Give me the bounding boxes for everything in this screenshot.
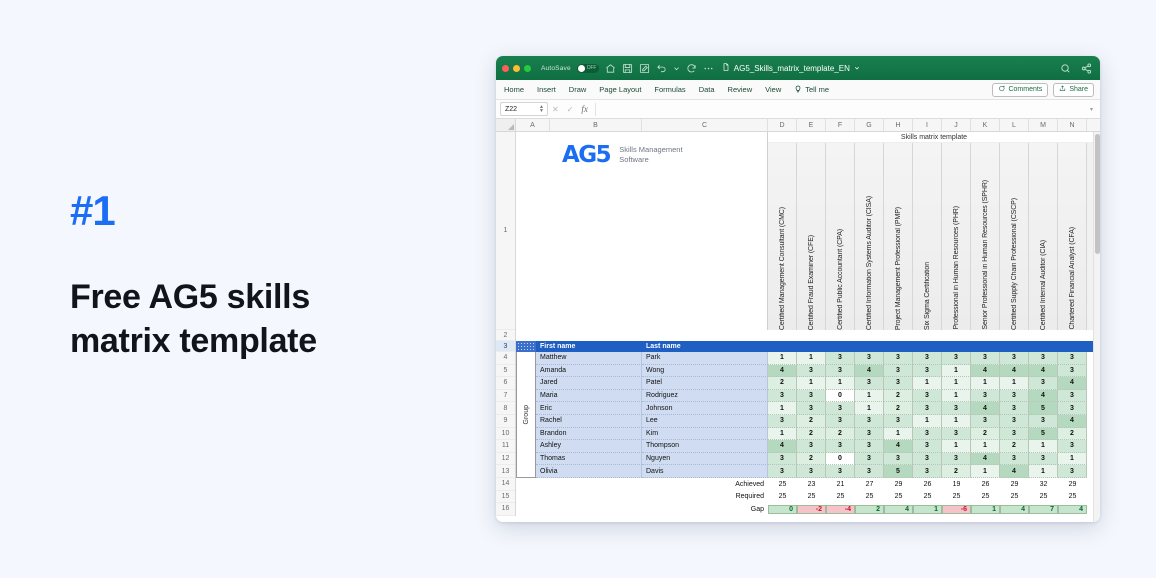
column-headers: A B C D E F G H I J K L M N: [496, 119, 1100, 132]
skill-score-cell[interactable]: 4: [1029, 365, 1058, 378]
comments-button[interactable]: Comments: [992, 83, 1048, 97]
last-name-cell[interactable]: Park: [642, 352, 768, 365]
window-titlebar: AutoSave OFF: [496, 56, 1100, 80]
skill-score-cell[interactable]: 2: [797, 415, 826, 428]
skill-score-cell[interactable]: 2: [884, 390, 913, 403]
achieved-value-cell: 29: [1058, 481, 1087, 488]
share-icon: [1059, 85, 1066, 94]
spreadsheet-grid: A B C D E F G H I J K L M N 1 2: [496, 119, 1100, 522]
skill-header-G[interactable]: Certified Information Systems Auditor (C…: [855, 143, 884, 330]
skill-score-cell[interactable]: 3: [855, 377, 884, 390]
skill-score-cell[interactable]: 5: [884, 465, 913, 478]
last-name-cell[interactable]: Davis: [642, 465, 768, 478]
achieved-value-cell: 19: [942, 481, 971, 488]
skill-score-cell[interactable]: 3: [826, 415, 855, 428]
skill-score-cell[interactable]: 3: [913, 428, 942, 441]
skill-score-cell[interactable]: 3: [971, 390, 1000, 403]
skill-score-cell[interactable]: 3: [913, 453, 942, 466]
skill-score-cell[interactable]: 3: [884, 377, 913, 390]
last-name-cell[interactable]: Kim: [642, 428, 768, 441]
group-cell-spacer: [516, 390, 536, 403]
skill-score-cell[interactable]: 2: [1000, 440, 1029, 453]
gap-value-cell: 4: [884, 505, 913, 514]
skill-score-cell[interactable]: 3: [1058, 390, 1087, 403]
skill-score-cell[interactable]: 3: [855, 415, 884, 428]
skill-score-cell[interactable]: 1: [1029, 465, 1058, 478]
save-icon[interactable]: [622, 63, 633, 74]
ag5-logo: AG5: [562, 142, 610, 168]
name-box-value: Z22: [505, 106, 517, 113]
column-header-F[interactable]: F: [826, 119, 855, 131]
table-row[interactable]: BrandonKim12231332352: [516, 428, 1100, 441]
chevron-down-icon[interactable]: ▾: [1090, 106, 1096, 113]
row-header-14[interactable]: 14: [496, 478, 515, 491]
search-icon[interactable]: [1060, 63, 1071, 74]
ag5-subtitle-line1: Skills Management: [619, 145, 682, 154]
skill-score-cell[interactable]: 3: [913, 390, 942, 403]
required-value-cell: 25: [913, 493, 942, 500]
ribbon-tabs: Home Insert Draw Page Layout Formulas Da…: [496, 80, 1100, 100]
table-row[interactable]: OliviaDavis33335321413: [516, 465, 1100, 478]
column-header-L[interactable]: L: [1000, 119, 1029, 131]
skill-score-cell[interactable]: 4: [1000, 365, 1029, 378]
skill-score-cell[interactable]: 1: [855, 402, 884, 415]
name-box[interactable]: Z22 ▲▼: [500, 102, 548, 116]
skill-score-cell[interactable]: 1: [942, 390, 971, 403]
achieved-value-cell: 29: [1000, 481, 1029, 488]
share-button[interactable]: Share: [1053, 83, 1094, 97]
promo-title-line2: matrix template: [70, 320, 450, 364]
skill-header-M[interactable]: Certified Internal Auditor (CIA): [1029, 143, 1058, 330]
first-name-cell[interactable]: Eric: [536, 402, 642, 415]
gap-values: 0-2-4241-61474: [768, 505, 1087, 514]
skill-score-cell[interactable]: 1: [971, 440, 1000, 453]
required-values: 2525252525252525252525: [768, 493, 1087, 500]
achieved-values: 2523212729261926293229: [768, 481, 1087, 488]
skill-score-cell[interactable]: 3: [1029, 352, 1058, 365]
first-name-cell[interactable]: Brandon: [536, 428, 642, 441]
header-last-name: Last name: [642, 341, 768, 352]
skill-score-cell[interactable]: 4: [884, 440, 913, 453]
table-row[interactable]: JaredPatel21133111134: [516, 377, 1100, 390]
skill-score-cell[interactable]: 3: [1029, 377, 1058, 390]
tab-insert[interactable]: Insert: [537, 85, 556, 94]
required-value-cell: 25: [797, 493, 826, 500]
row-header-1[interactable]: 1: [496, 132, 515, 330]
gap-value-cell: -2: [797, 505, 826, 514]
required-value-cell: 25: [855, 493, 884, 500]
skill-label: Certified Fraud Examiner (CFE): [808, 232, 815, 330]
tab-view[interactable]: View: [765, 85, 781, 94]
table-row[interactable]: AmandaWong43343314443: [516, 365, 1100, 378]
column-header-K[interactable]: K: [971, 119, 1000, 131]
table-header-row: First name Last name: [516, 341, 1100, 352]
skill-score-cell[interactable]: 4: [971, 453, 1000, 466]
required-value-cell: 25: [826, 493, 855, 500]
skill-score-cell[interactable]: 1: [913, 415, 942, 428]
table-row[interactable]: AshleyThompson43334311213: [516, 440, 1100, 453]
skill-score-cell[interactable]: 3: [826, 440, 855, 453]
skill-score-cell[interactable]: 2: [768, 377, 797, 390]
header-skill-span: [768, 341, 1100, 352]
skill-score-cell[interactable]: 0: [826, 453, 855, 466]
skill-score-cell[interactable]: 4: [971, 365, 1000, 378]
achieved-value-cell: 23: [797, 481, 826, 488]
ag5-subtitle: Skills Management Software: [619, 145, 682, 165]
first-name-cell[interactable]: Matthew: [536, 352, 642, 365]
skill-header-H[interactable]: Project Management Professional (PMP): [884, 143, 913, 330]
first-name-cell[interactable]: Thomas: [536, 453, 642, 466]
required-value-cell: 25: [1058, 493, 1087, 500]
column-header-M[interactable]: M: [1029, 119, 1058, 131]
first-name-cell[interactable]: Ashley: [536, 440, 642, 453]
skill-score-cell[interactable]: 1: [768, 352, 797, 365]
required-value-cell: 25: [1000, 493, 1029, 500]
summary-row-required: Required 2525252525252525252525: [516, 491, 1100, 504]
skill-score-cell[interactable]: 3: [797, 390, 826, 403]
skill-score-cell[interactable]: 3: [1000, 402, 1029, 415]
skill-header-N[interactable]: Chartered Financial Analyst (CFA): [1058, 143, 1087, 330]
skill-score-cell[interactable]: 0: [826, 390, 855, 403]
document-name-text: AG5_Skills_matrix_template_EN: [734, 64, 850, 73]
row-header-2[interactable]: 2: [496, 330, 515, 341]
skill-score-cell[interactable]: 2: [1058, 428, 1087, 441]
column-header-N[interactable]: N: [1058, 119, 1087, 131]
spacer-row-2: [516, 330, 1100, 341]
skill-score-cell[interactable]: 3: [768, 465, 797, 478]
file-icon: [722, 62, 730, 74]
tab-draw[interactable]: Draw: [569, 85, 587, 94]
skill-header-K[interactable]: Senior Professional in Human Resources (…: [971, 143, 1000, 330]
tab-page-layout[interactable]: Page Layout: [599, 85, 641, 94]
row-header-7[interactable]: 7: [496, 390, 515, 403]
tab-review[interactable]: Review: [728, 85, 753, 94]
skill-score-cell[interactable]: 3: [1058, 352, 1087, 365]
skill-score-cell[interactable]: 3: [884, 453, 913, 466]
skill-label: Professional in Human Resources (PHR): [953, 203, 960, 330]
redo-icon[interactable]: [686, 63, 697, 74]
skill-score-cell[interactable]: 3: [826, 365, 855, 378]
skill-score-cell[interactable]: 3: [826, 352, 855, 365]
required-value-cell: 25: [971, 493, 1000, 500]
first-name-cell[interactable]: Rachel: [536, 415, 642, 428]
skill-score-cell[interactable]: 3: [1029, 453, 1058, 466]
select-all-corner[interactable]: [496, 119, 516, 131]
skill-score-cell[interactable]: 3: [884, 352, 913, 365]
undo-icon[interactable]: [656, 63, 667, 74]
row-header-10[interactable]: 10: [496, 428, 515, 441]
row-header-4[interactable]: 4: [496, 352, 515, 365]
skill-score-cell[interactable]: 3: [1058, 402, 1087, 415]
skill-score-cell[interactable]: 1: [971, 377, 1000, 390]
document-title[interactable]: AG5_Skills_matrix_template_EN: [722, 62, 860, 74]
skill-score-cell[interactable]: 3: [855, 465, 884, 478]
skill-score-cell[interactable]: 3: [884, 365, 913, 378]
gap-label: Gap: [516, 506, 768, 513]
column-header-E[interactable]: E: [797, 119, 826, 131]
autosave-state: OFF: [587, 65, 596, 71]
required-value-cell: 25: [1029, 493, 1058, 500]
autosave-label: AutoSave: [541, 65, 571, 72]
first-name-cell[interactable]: Jared: [536, 377, 642, 390]
summary-row-achieved: Achieved 2523212729261926293229: [516, 478, 1100, 491]
skill-score-cell[interactable]: 3: [855, 428, 884, 441]
skill-score-cell[interactable]: 1: [826, 377, 855, 390]
skill-header-J[interactable]: Professional in Human Resources (PHR): [942, 143, 971, 330]
skill-score-cell[interactable]: 1: [1029, 440, 1058, 453]
skill-score-cell[interactable]: 3: [1000, 390, 1029, 403]
skill-score-cell[interactable]: 3: [942, 352, 971, 365]
achieved-value-cell: 21: [826, 481, 855, 488]
skill-label: Certified Supply Chain Professional (CSC…: [1011, 195, 1018, 330]
skill-score-cell[interactable]: 3: [797, 465, 826, 478]
skill-label: Certified Management Consultant (CMC): [779, 204, 786, 330]
skill-score-cell[interactable]: 1: [797, 377, 826, 390]
skill-score-cell[interactable]: 3: [942, 402, 971, 415]
tell-me-label: Tell me: [805, 85, 829, 94]
skill-score-cell[interactable]: 3: [797, 440, 826, 453]
skill-score-cell[interactable]: 3: [971, 352, 1000, 365]
share-link-icon[interactable]: [1081, 63, 1092, 74]
last-name-cell[interactable]: Johnson: [642, 402, 768, 415]
gap-value-cell: 4: [1000, 505, 1029, 514]
close-window-button[interactable]: [502, 65, 509, 72]
skill-score-cell[interactable]: 3: [797, 365, 826, 378]
chevron-down-icon[interactable]: [854, 64, 860, 73]
skill-score-cell[interactable]: 4: [855, 365, 884, 378]
skill-score-cell[interactable]: 1: [797, 352, 826, 365]
row-header-16[interactable]: 16: [496, 503, 515, 516]
skill-score-cell[interactable]: 1: [942, 377, 971, 390]
tab-formulas[interactable]: Formulas: [654, 85, 685, 94]
skill-score-cell[interactable]: 3: [884, 415, 913, 428]
skill-score-cell[interactable]: 3: [971, 415, 1000, 428]
skill-header-E[interactable]: Certified Fraud Examiner (CFE): [797, 143, 826, 330]
skill-score-cell[interactable]: 3: [797, 402, 826, 415]
skill-score-cell[interactable]: 2: [797, 428, 826, 441]
skill-score-cell[interactable]: 3: [826, 402, 855, 415]
last-name-cell[interactable]: Rodriguez: [642, 390, 768, 403]
last-name-cell[interactable]: Wong: [642, 365, 768, 378]
skill-label: Certified Information Systems Auditor (C…: [866, 193, 873, 330]
skill-score-cell[interactable]: 3: [913, 465, 942, 478]
column-header-I[interactable]: I: [913, 119, 942, 131]
skill-score-cell[interactable]: 3: [1000, 352, 1029, 365]
skill-header-F[interactable]: Certified Public Accountant (CPA): [826, 143, 855, 330]
row-header-6[interactable]: 6: [496, 377, 515, 390]
group-label: Group: [523, 405, 530, 424]
column-header-D[interactable]: D: [768, 119, 797, 131]
achieved-value-cell: 26: [913, 481, 942, 488]
home-icon[interactable]: [605, 63, 616, 74]
group-cell-spacer: [516, 440, 536, 453]
skill-score-cell[interactable]: 4: [971, 402, 1000, 415]
maximize-window-button[interactable]: [524, 65, 531, 72]
achieved-label: Achieved: [516, 481, 768, 488]
row-header-5[interactable]: 5: [496, 365, 515, 378]
skill-score-cell[interactable]: 1: [942, 415, 971, 428]
skill-score-cell[interactable]: 4: [768, 440, 797, 453]
skill-score-cell[interactable]: 1: [768, 428, 797, 441]
skill-header-D[interactable]: Certified Management Consultant (CMC): [768, 143, 797, 330]
skill-score-cell[interactable]: 4: [1000, 465, 1029, 478]
formula-input[interactable]: [595, 103, 1090, 116]
skill-score-cell[interactable]: 1: [942, 440, 971, 453]
first-name-cell[interactable]: Amanda: [536, 365, 642, 378]
required-value-cell: 25: [884, 493, 913, 500]
skill-score-cell[interactable]: 1: [971, 465, 1000, 478]
table-row[interactable]: ThomasNguyen32033334331: [516, 453, 1100, 466]
skill-score-cell[interactable]: 3: [1000, 415, 1029, 428]
column-header-A[interactable]: A: [516, 119, 550, 131]
comment-icon: [998, 85, 1005, 94]
fx-icon[interactable]: fx: [581, 104, 588, 114]
first-name-cell[interactable]: Olivia: [536, 465, 642, 478]
skill-score-cell[interactable]: 3: [913, 365, 942, 378]
skill-score-cell[interactable]: 3: [942, 428, 971, 441]
skill-score-cell[interactable]: 3: [1058, 440, 1087, 453]
edit-icon[interactable]: [639, 63, 650, 74]
row-header-15[interactable]: 15: [496, 491, 515, 504]
skill-score-cell[interactable]: 3: [913, 352, 942, 365]
last-name-cell[interactable]: Lee: [642, 415, 768, 428]
header-first-name: First name: [536, 341, 642, 352]
row-header-11[interactable]: 11: [496, 440, 515, 453]
promo-title: Free AG5 skills matrix template: [70, 276, 450, 363]
skill-label: Chartered Financial Analyst (CFA): [1069, 224, 1076, 330]
skill-score-cell[interactable]: 1: [913, 377, 942, 390]
column-header-B[interactable]: B: [550, 119, 642, 131]
column-header-G[interactable]: G: [855, 119, 884, 131]
skill-label: Six Sigma Certification: [924, 259, 931, 330]
skill-score-cell[interactable]: 1: [1000, 377, 1029, 390]
required-value-cell: 25: [768, 493, 797, 500]
skill-score-cell[interactable]: 3: [855, 440, 884, 453]
skill-score-cell[interactable]: 2: [797, 453, 826, 466]
skill-score-cell[interactable]: 3: [768, 415, 797, 428]
ag5-branding: AG5 Skills Management Software: [562, 142, 683, 168]
scrollbar-thumb[interactable]: [1095, 134, 1100, 254]
column-header-J[interactable]: J: [942, 119, 971, 131]
minimize-window-button[interactable]: [513, 65, 520, 72]
skill-score-cell[interactable]: 3: [1058, 465, 1087, 478]
grid-body: 1 2 3 4 5 6 7 8 9 10 11 12 13 14 15 16: [496, 132, 1100, 516]
share-label: Share: [1069, 86, 1088, 93]
skill-header-L[interactable]: Certified Supply Chain Professional (CSC…: [1000, 143, 1029, 330]
close-icon[interactable]: ✕: [552, 105, 559, 114]
skill-score-cell[interactable]: 3: [855, 453, 884, 466]
table-row[interactable]: GroupMatthewPark11333333333: [516, 352, 1100, 365]
skill-score-cell[interactable]: 1: [884, 428, 913, 441]
merged-title-cell: Skills matrix template: [768, 132, 1100, 143]
skill-score-cell[interactable]: 4: [768, 365, 797, 378]
skill-score-cell[interactable]: 1: [942, 365, 971, 378]
skill-score-cell[interactable]: 4: [1058, 377, 1087, 390]
header-band: AG5 Skills Management Software Skills ma…: [516, 132, 1100, 330]
last-name-cell[interactable]: Patel: [642, 377, 768, 390]
vertical-scrollbar[interactable]: [1093, 132, 1100, 522]
skill-score-cell[interactable]: 3: [1029, 415, 1058, 428]
skill-score-cell[interactable]: 3: [855, 352, 884, 365]
table-row[interactable]: MariaRodriguez33012313343: [516, 390, 1100, 403]
skill-score-cell[interactable]: 4: [1058, 415, 1087, 428]
skill-score-cell[interactable]: 1: [855, 390, 884, 403]
lightbulb-icon: [794, 85, 802, 95]
tab-data[interactable]: Data: [699, 85, 715, 94]
chevron-down-icon[interactable]: [673, 65, 680, 72]
first-name-cell[interactable]: Maria: [536, 390, 642, 403]
more-icon[interactable]: [703, 63, 714, 74]
name-box-spinner[interactable]: ▲▼: [539, 105, 544, 113]
window-controls[interactable]: [502, 65, 531, 72]
required-value-cell: 25: [942, 493, 971, 500]
table-row[interactable]: RachelLee32333113334: [516, 415, 1100, 428]
gap-value-cell: 1: [913, 505, 942, 514]
gap-value-cell: -6: [942, 505, 971, 514]
check-icon[interactable]: ✓: [567, 105, 574, 114]
skill-score-cell[interactable]: 1: [768, 402, 797, 415]
skill-header-I[interactable]: Six Sigma Certification: [913, 143, 942, 330]
formula-bar: Z22 ▲▼ ✕ ✓ fx ▾: [496, 100, 1100, 119]
row-header-12[interactable]: 12: [496, 453, 515, 466]
row-header-9[interactable]: 9: [496, 415, 515, 428]
skill-score-cell[interactable]: 5: [1029, 402, 1058, 415]
skill-label: Senior Professional in Human Resources (…: [982, 177, 989, 330]
skill-score-cell[interactable]: 5: [1029, 428, 1058, 441]
group-cell-spacer: [516, 465, 536, 478]
skill-score-cell[interactable]: 2: [971, 428, 1000, 441]
group-cell-spacer: [516, 453, 536, 466]
gap-value-cell: 4: [1058, 505, 1087, 514]
table-row[interactable]: EricJohnson13312334353: [516, 402, 1100, 415]
last-name-cell[interactable]: Thompson: [642, 440, 768, 453]
row-header-3[interactable]: 3: [496, 341, 515, 352]
column-header-C[interactable]: C: [642, 119, 768, 131]
achieved-value-cell: 29: [884, 481, 913, 488]
group-cell-spacer: [516, 377, 536, 390]
skill-score-cell[interactable]: 3: [1058, 365, 1087, 378]
skill-label: Certified Internal Auditor (CIA): [1040, 237, 1047, 330]
skill-score-cell[interactable]: 3: [826, 465, 855, 478]
row-header-13[interactable]: 13: [496, 465, 515, 478]
skill-score-cell[interactable]: 4: [1029, 390, 1058, 403]
tab-home[interactable]: Home: [504, 85, 524, 94]
ag5-subtitle-line2: Software: [619, 155, 649, 164]
last-name-cell[interactable]: Nguyen: [642, 453, 768, 466]
gap-value-cell: -4: [826, 505, 855, 514]
skill-score-cell[interactable]: 3: [913, 440, 942, 453]
skill-label: Project Management Professional (PMP): [895, 204, 902, 330]
skill-score-cell[interactable]: 3: [942, 453, 971, 466]
skill-score-cell[interactable]: 3: [768, 453, 797, 466]
gap-value-cell: 2: [855, 505, 884, 514]
tell-me-button[interactable]: Tell me: [794, 85, 829, 95]
column-header-H[interactable]: H: [884, 119, 913, 131]
table-rows: GroupMatthewPark11333333333AmandaWong433…: [516, 352, 1100, 478]
skill-score-cell[interactable]: 2: [826, 428, 855, 441]
row-header-8[interactable]: 8: [496, 402, 515, 415]
skill-score-cell[interactable]: 2: [942, 465, 971, 478]
skill-score-cell[interactable]: 3: [1000, 453, 1029, 466]
skill-score-cell[interactable]: 2: [884, 402, 913, 415]
skill-score-cell[interactable]: 3: [913, 402, 942, 415]
skill-score-cell[interactable]: 3: [768, 390, 797, 403]
autosave-toggle[interactable]: OFF: [577, 64, 599, 73]
skill-score-cell[interactable]: 3: [1000, 428, 1029, 441]
sheet-content: AG5 Skills Management Software Skills ma…: [516, 132, 1100, 516]
skill-score-cell[interactable]: 1: [1058, 453, 1087, 466]
row-headers: 1 2 3 4 5 6 7 8 9 10 11 12 13 14 15 16: [496, 132, 516, 516]
